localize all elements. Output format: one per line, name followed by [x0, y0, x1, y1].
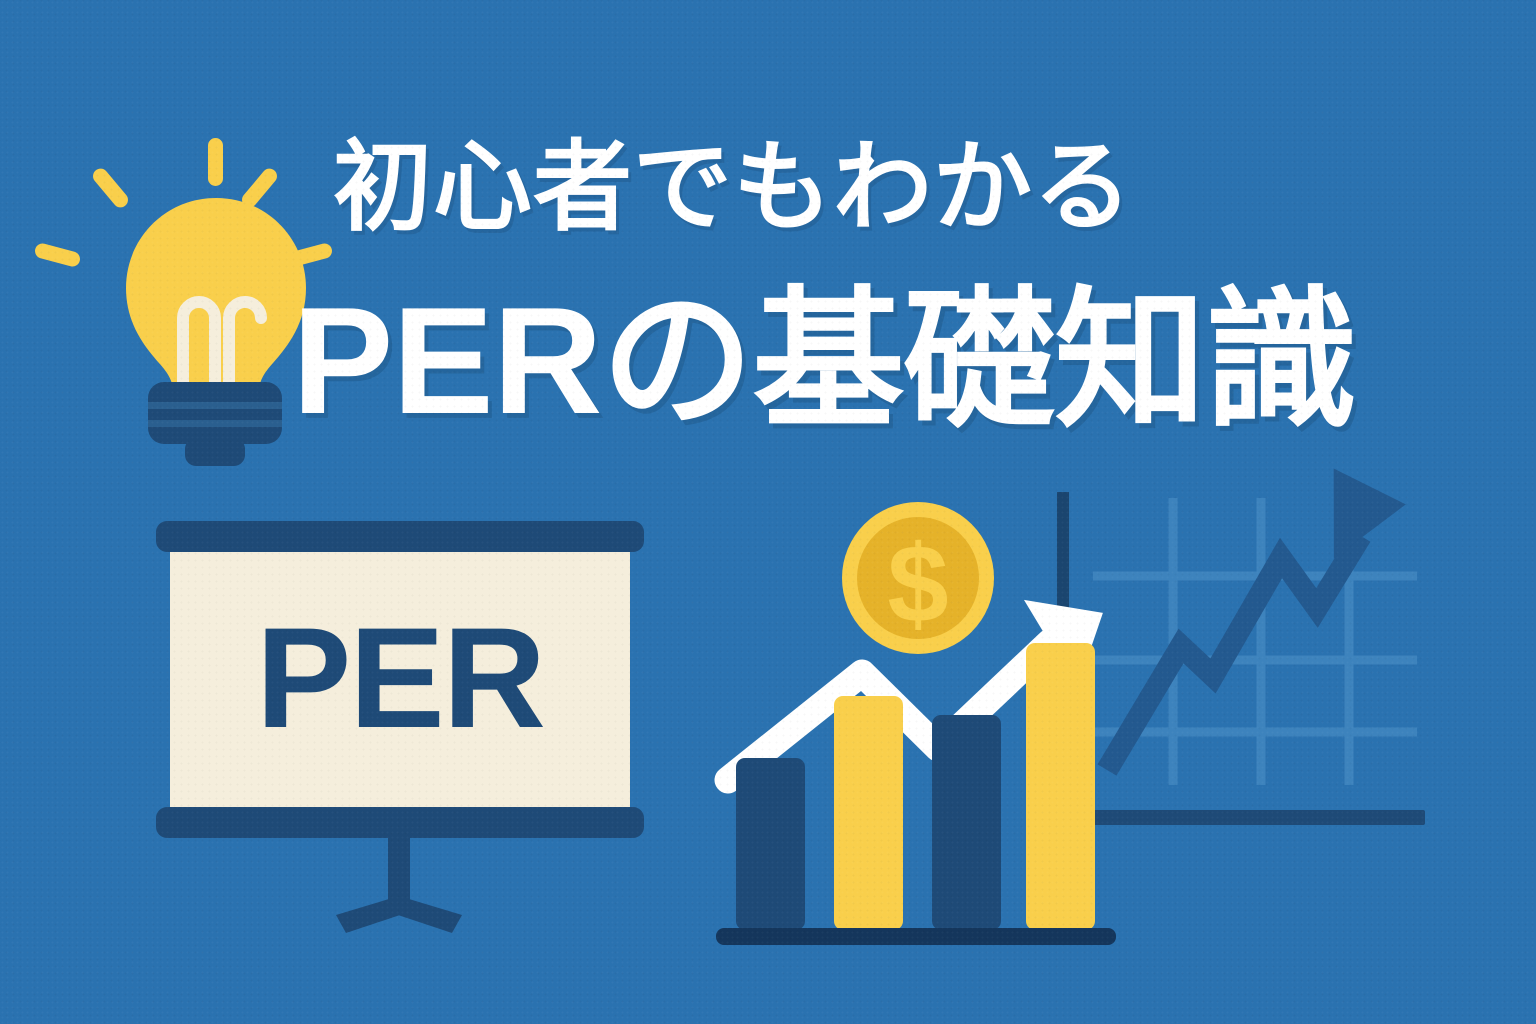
presentation-board-icon: PER: [150, 515, 650, 935]
board-stand-leg-right: [389, 896, 462, 933]
bulb-base-nub: [185, 438, 245, 466]
coin-dollar-symbol: $: [887, 523, 948, 646]
board-screen-label: PER: [256, 599, 544, 758]
chart-baseline: [716, 928, 1116, 945]
bar-1: [736, 758, 805, 930]
bar-chart-illustration: $: [700, 470, 1130, 970]
bulb-ray-upper-left: [90, 166, 131, 211]
graph-arrowhead: [1291, 447, 1406, 559]
subtitle-text: 初心者でもわかる: [333, 137, 1133, 236]
bulb-base-stripe-1: [148, 402, 282, 409]
page-title: PERの基礎知識: [292, 285, 1357, 437]
bulb-base: [148, 382, 282, 444]
dollar-coin-icon: $: [842, 502, 994, 654]
graph-baseline: [1085, 810, 1425, 825]
bulb-ray-top: [208, 138, 223, 186]
bar-3: [932, 715, 1001, 930]
bulb-ray-left: [33, 242, 81, 268]
line-graph-icon: [1085, 480, 1505, 840]
bar-2: [834, 696, 903, 930]
poster-canvas: 初心者でもわかる PERの基礎知識 PER: [0, 0, 1536, 1024]
board-top-rail: [156, 521, 644, 552]
bar-4: [1026, 643, 1095, 930]
bulb-base-stripe-2: [148, 420, 282, 427]
